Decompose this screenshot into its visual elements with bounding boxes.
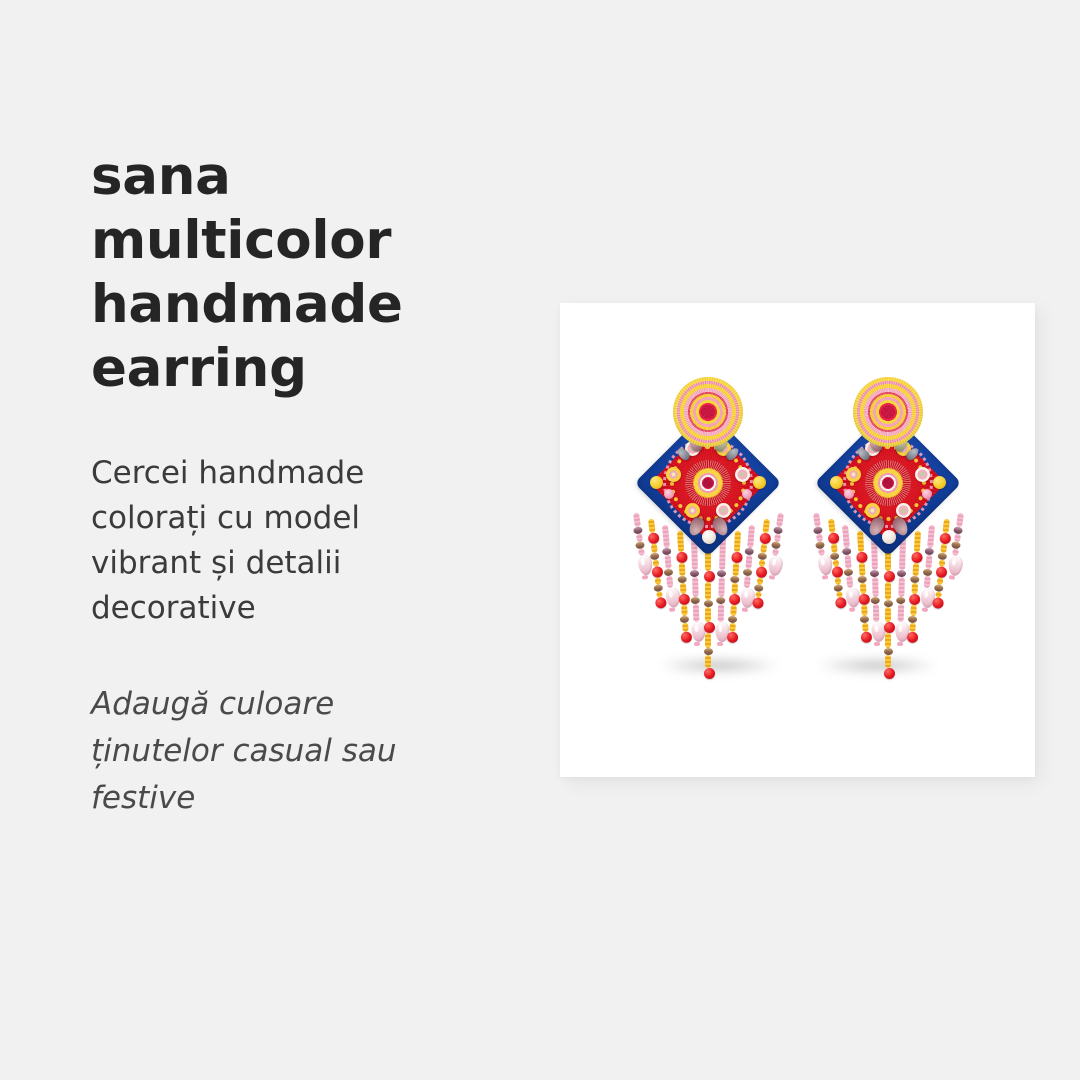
rosette-icon xyxy=(685,503,700,518)
left-earring xyxy=(618,377,798,677)
fringe-strand xyxy=(884,543,893,679)
product-tagline: Adaugă culoare ținutelor casual sau fest… xyxy=(91,631,401,822)
red-bead xyxy=(651,566,663,578)
poster-canvas: sana multicolor handmade earring Cercei … xyxy=(0,0,1080,1080)
red-bead xyxy=(884,668,895,679)
rondelle-bead xyxy=(704,648,713,655)
red-bead xyxy=(884,571,895,582)
pink-pom-icon xyxy=(844,489,854,499)
red-bead xyxy=(678,594,690,606)
red-bead xyxy=(908,594,920,606)
rosette-icon xyxy=(915,467,930,482)
red-bead xyxy=(751,597,763,609)
red-bead xyxy=(884,622,895,633)
red-bead xyxy=(858,594,870,606)
red-bead xyxy=(728,594,740,606)
rosette-icon xyxy=(666,467,681,482)
red-bead xyxy=(680,631,692,643)
teardrop-bead xyxy=(767,555,784,577)
pink-pom-icon xyxy=(922,489,932,499)
page-title: sana multicolor handmade earring xyxy=(91,145,421,401)
red-bead xyxy=(704,668,715,679)
red-bead xyxy=(834,597,846,609)
red-bead xyxy=(860,631,872,643)
yellow-pom-icon xyxy=(933,476,946,489)
rondelle-bead xyxy=(884,600,893,607)
red-bead xyxy=(935,566,947,578)
fringe-strand xyxy=(895,537,907,646)
red-bead xyxy=(654,597,666,609)
red-bead xyxy=(831,566,843,578)
pink-pom-icon xyxy=(742,489,752,499)
right-earring xyxy=(798,377,978,677)
yellow-pom-icon xyxy=(830,476,843,489)
fringe-strand xyxy=(715,537,727,646)
product-image-card[interactable] xyxy=(560,303,1035,777)
red-bead xyxy=(726,632,738,644)
pearl-bead-icon xyxy=(702,530,716,544)
fringe-strand xyxy=(869,537,881,646)
red-bead xyxy=(906,632,918,644)
yellow-pom-icon xyxy=(753,476,766,489)
product-text-column: sana multicolor handmade earring Cercei … xyxy=(91,145,491,822)
rosette-icon xyxy=(846,467,861,482)
red-bead xyxy=(911,552,923,564)
fringe-strand xyxy=(689,537,701,646)
center-cabochon xyxy=(865,460,911,506)
red-bead xyxy=(676,552,688,564)
center-cabochon xyxy=(685,460,731,506)
rondelle-bead xyxy=(704,600,713,607)
product-photo xyxy=(560,303,1035,777)
rosette-icon xyxy=(896,503,911,518)
beaded-stud-icon xyxy=(673,377,743,447)
beaded-stud-icon xyxy=(853,377,923,447)
rondelle-bead xyxy=(884,648,893,655)
pink-pom-icon xyxy=(664,489,674,499)
red-bead xyxy=(731,552,743,564)
red-bead xyxy=(755,566,767,578)
red-bead xyxy=(931,597,943,609)
red-bead xyxy=(704,571,715,582)
yellow-pom-icon xyxy=(650,476,663,489)
red-bead xyxy=(856,552,868,564)
product-description: Cercei handmade colorați cu model vibran… xyxy=(91,401,411,631)
teardrop-bead xyxy=(947,555,964,577)
rosette-icon xyxy=(735,467,750,482)
rosette-icon xyxy=(865,503,880,518)
rosette-icon xyxy=(716,503,731,518)
fringe-strand xyxy=(704,543,713,679)
pearl-bead-icon xyxy=(882,530,896,544)
red-bead xyxy=(704,622,715,633)
